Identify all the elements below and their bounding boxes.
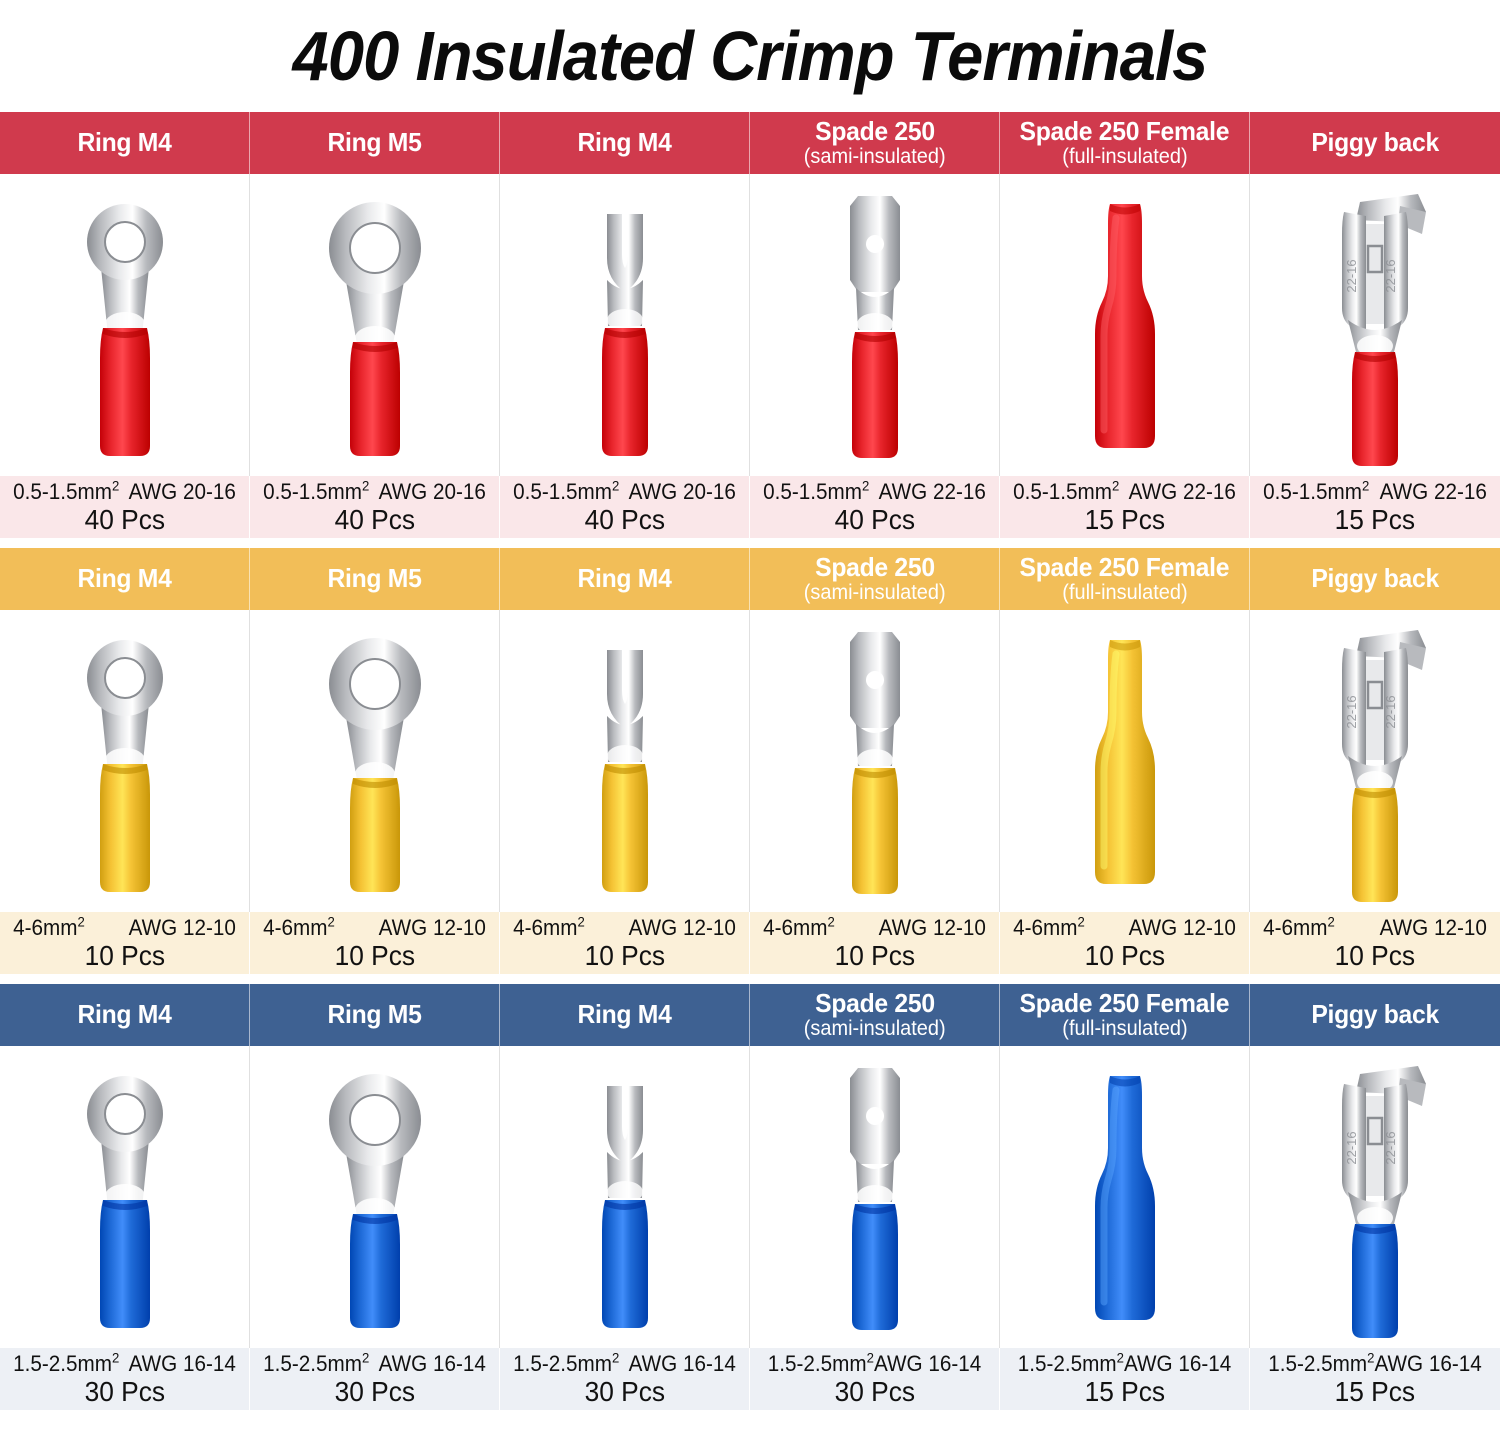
column-header-subtitle: (sami-insulated) xyxy=(804,1018,946,1040)
terminal-row-blue: Ring M4Ring M5Ring M4Spade 250(sami-insu… xyxy=(0,984,1500,1410)
column-header-1: Ring M4 xyxy=(0,112,250,174)
wire-gauge-mm: 1.5-2.5mm2 xyxy=(1018,1353,1124,1375)
superscript-two: 2 xyxy=(862,477,869,493)
wire-gauge-awg: AWG 20-16 xyxy=(129,481,236,503)
column-header-title: Ring M5 xyxy=(327,1001,421,1028)
superscript-two: 2 xyxy=(1367,1349,1374,1365)
column-header-title: Spade 250 Female xyxy=(1020,990,1230,1017)
column-header-3: Ring M4 xyxy=(500,112,750,174)
column-header-title: Ring M4 xyxy=(77,1001,171,1028)
spec-line-wire-awg: 4-6mm2AWG 12-10 xyxy=(1007,917,1241,939)
spec-cell-2: 1.5-2.5mm2AWG 16-1430 Pcs xyxy=(250,1348,500,1410)
spec-cell-1: 0.5-1.5mm2AWG 20-1640 Pcs xyxy=(0,476,250,538)
quantity-label: 10 Pcs xyxy=(334,942,414,970)
column-header-1: Ring M4 xyxy=(0,984,250,1046)
column-header-4: Spade 250(sami-insulated) xyxy=(750,112,1000,174)
quantity-label: 30 Pcs xyxy=(834,1378,914,1406)
column-header-title: Spade 250 xyxy=(815,990,935,1017)
wire-gauge-mm: 0.5-1.5mm2 xyxy=(13,481,119,503)
row-header-strip: Ring M4Ring M5Ring M4Spade 250(sami-insu… xyxy=(0,548,1500,610)
quantity-label: 15 Pcs xyxy=(1335,1378,1415,1406)
quantity-label: 15 Pcs xyxy=(1084,1378,1164,1406)
row-image-strip: 22-1622-16 xyxy=(0,610,1500,912)
spec-line-wire-awg: 0.5-1.5mm2AWG 20-16 xyxy=(507,481,741,503)
spec-line-wire-awg: 1.5-2.5mm2AWG 16-14 xyxy=(757,1353,991,1375)
wire-gauge-awg: AWG 16-14 xyxy=(874,1353,981,1375)
wire-gauge-awg: AWG 16-14 xyxy=(1124,1353,1231,1375)
quantity-label: 10 Pcs xyxy=(84,942,164,970)
svg-text:22-16: 22-16 xyxy=(1383,1131,1398,1164)
terminal-image-female xyxy=(1000,1046,1250,1348)
terminal-image-ring-large xyxy=(250,1046,500,1348)
row-image-strip: 22-1622-16 xyxy=(0,1046,1500,1348)
svg-text:22-16: 22-16 xyxy=(1344,1131,1359,1164)
spec-cell-6: 0.5-1.5mm2AWG 22-1615 Pcs xyxy=(1250,476,1500,538)
spec-line-wire-awg: 1.5-2.5mm2AWG 16-14 xyxy=(7,1353,241,1375)
superscript-two: 2 xyxy=(1117,1349,1124,1365)
superscript-two: 2 xyxy=(1077,913,1084,929)
wire-gauge-awg: AWG 22-16 xyxy=(1129,481,1236,503)
wire-gauge-mm: 4-6mm2 xyxy=(13,917,85,939)
spec-cell-4: 0.5-1.5mm2AWG 22-1640 Pcs xyxy=(750,476,1000,538)
spec-line-wire-awg: 4-6mm2AWG 12-10 xyxy=(757,917,991,939)
spec-cell-4: 1.5-2.5mm2AWG 16-1430 Pcs xyxy=(750,1348,1000,1410)
column-header-title: Ring M5 xyxy=(327,565,421,592)
superscript-two: 2 xyxy=(362,1349,369,1365)
row-image-strip: 22-1622-16 xyxy=(0,174,1500,476)
quantity-label: 10 Pcs xyxy=(1084,942,1164,970)
column-header-6: Piggy back xyxy=(1250,548,1500,610)
superscript-two: 2 xyxy=(327,913,334,929)
terminal-rows: Ring M4Ring M5Ring M4Spade 250(sami-insu… xyxy=(0,112,1500,1410)
wire-gauge-mm: 0.5-1.5mm2 xyxy=(513,481,619,503)
quantity-label: 15 Pcs xyxy=(1084,506,1164,534)
column-header-5: Spade 250 Female(full-insulated) xyxy=(1000,112,1250,174)
wire-gauge-awg: AWG 16-14 xyxy=(1374,1353,1481,1375)
row-separator xyxy=(0,974,1500,984)
svg-text:22-16: 22-16 xyxy=(1344,695,1359,728)
superscript-two: 2 xyxy=(362,477,369,493)
quantity-label: 10 Pcs xyxy=(1335,942,1415,970)
spec-line-wire-awg: 1.5-2.5mm2AWG 16-14 xyxy=(1007,1353,1241,1375)
page-title: 400 Insulated Crimp Terminals xyxy=(53,0,1448,112)
wire-gauge-awg: AWG 12-10 xyxy=(879,917,986,939)
wire-gauge-mm: 0.5-1.5mm2 xyxy=(763,481,869,503)
column-header-title: Spade 250 xyxy=(815,118,935,145)
column-header-title: Ring M4 xyxy=(577,565,671,592)
spec-line-wire-awg: 0.5-1.5mm2AWG 22-16 xyxy=(1258,481,1493,503)
wire-gauge-awg: AWG 16-14 xyxy=(379,1353,486,1375)
column-header-3: Ring M4 xyxy=(500,984,750,1046)
superscript-two: 2 xyxy=(827,913,834,929)
wire-gauge-awg: AWG 12-10 xyxy=(1129,917,1236,939)
terminal-image-piggyback: 22-1622-16 xyxy=(1250,174,1500,476)
row-spec-strip: 1.5-2.5mm2AWG 16-1430 Pcs1.5-2.5mm2AWG 1… xyxy=(0,1348,1500,1410)
spec-cell-2: 4-6mm2AWG 12-1010 Pcs xyxy=(250,912,500,974)
svg-text:22-16: 22-16 xyxy=(1344,259,1359,292)
column-header-4: Spade 250(sami-insulated) xyxy=(750,548,1000,610)
terminal-image-female xyxy=(1000,610,1250,912)
column-header-title: Piggy back xyxy=(1311,565,1439,592)
terminal-image-ring-large xyxy=(250,610,500,912)
spec-cell-1: 4-6mm2AWG 12-1010 Pcs xyxy=(0,912,250,974)
spec-line-wire-awg: 0.5-1.5mm2AWG 22-16 xyxy=(757,481,991,503)
superscript-two: 2 xyxy=(1327,913,1334,929)
column-header-5: Spade 250 Female(full-insulated) xyxy=(1000,548,1250,610)
svg-text:22-16: 22-16 xyxy=(1383,259,1398,292)
superscript-two: 2 xyxy=(112,1349,119,1365)
spec-line-wire-awg: 0.5-1.5mm2AWG 20-16 xyxy=(7,481,241,503)
terminal-image-ring xyxy=(0,610,250,912)
superscript-two: 2 xyxy=(612,1349,619,1365)
spec-cell-5: 0.5-1.5mm2AWG 22-1615 Pcs xyxy=(1000,476,1250,538)
terminal-image-spade xyxy=(750,174,1000,476)
column-header-title: Ring M4 xyxy=(577,1001,671,1028)
superscript-two: 2 xyxy=(112,477,119,493)
terminal-image-spade xyxy=(750,1046,1000,1348)
column-header-subtitle: (full-insulated) xyxy=(1062,146,1187,168)
superscript-two: 2 xyxy=(577,913,584,929)
column-header-1: Ring M4 xyxy=(0,548,250,610)
quantity-label: 40 Pcs xyxy=(84,506,164,534)
spec-cell-5: 4-6mm2AWG 12-1010 Pcs xyxy=(1000,912,1250,974)
terminal-image-fork xyxy=(500,1046,750,1348)
column-header-title: Ring M4 xyxy=(77,565,171,592)
quantity-label: 40 Pcs xyxy=(584,506,664,534)
quantity-label: 40 Pcs xyxy=(834,506,914,534)
row-header-strip: Ring M4Ring M5Ring M4Spade 250(sami-insu… xyxy=(0,112,1500,174)
wire-gauge-mm: 4-6mm2 xyxy=(1013,917,1085,939)
svg-text:22-16: 22-16 xyxy=(1383,695,1398,728)
spec-cell-3: 0.5-1.5mm2AWG 20-1640 Pcs xyxy=(500,476,750,538)
wire-gauge-mm: 1.5-2.5mm2 xyxy=(263,1353,369,1375)
column-header-5: Spade 250 Female(full-insulated) xyxy=(1000,984,1250,1046)
spec-cell-2: 0.5-1.5mm2AWG 20-1640 Pcs xyxy=(250,476,500,538)
quantity-label: 30 Pcs xyxy=(334,1378,414,1406)
column-header-3: Ring M4 xyxy=(500,548,750,610)
wire-gauge-awg: AWG 12-10 xyxy=(129,917,236,939)
terminal-image-ring xyxy=(0,1046,250,1348)
wire-gauge-mm: 1.5-2.5mm2 xyxy=(13,1353,119,1375)
column-header-2: Ring M5 xyxy=(250,112,500,174)
column-header-title: Piggy back xyxy=(1311,1001,1439,1028)
wire-gauge-awg: AWG 12-10 xyxy=(379,917,486,939)
spec-cell-5: 1.5-2.5mm2AWG 16-1415 Pcs xyxy=(1000,1348,1250,1410)
column-header-subtitle: (full-insulated) xyxy=(1062,582,1187,604)
column-header-title: Ring M5 xyxy=(327,129,421,156)
wire-gauge-awg: AWG 12-10 xyxy=(629,917,736,939)
wire-gauge-mm: 0.5-1.5mm2 xyxy=(263,481,369,503)
column-header-subtitle: (sami-insulated) xyxy=(804,582,946,604)
wire-gauge-awg: AWG 16-14 xyxy=(129,1353,236,1375)
column-header-subtitle: (sami-insulated) xyxy=(804,146,946,168)
wire-gauge-awg: AWG 12-10 xyxy=(1380,917,1487,939)
wire-gauge-mm: 1.5-2.5mm2 xyxy=(513,1353,619,1375)
wire-gauge-awg: AWG 22-16 xyxy=(879,481,986,503)
superscript-two: 2 xyxy=(612,477,619,493)
column-header-6: Piggy back xyxy=(1250,984,1500,1046)
terminal-image-ring xyxy=(0,174,250,476)
superscript-two: 2 xyxy=(77,913,84,929)
spec-line-wire-awg: 4-6mm2AWG 12-10 xyxy=(257,917,491,939)
column-header-title: Ring M4 xyxy=(577,129,671,156)
spec-cell-6: 4-6mm2AWG 12-1010 Pcs xyxy=(1250,912,1500,974)
spec-line-wire-awg: 4-6mm2AWG 12-10 xyxy=(7,917,241,939)
terminal-image-female xyxy=(1000,174,1250,476)
column-header-4: Spade 250(sami-insulated) xyxy=(750,984,1000,1046)
column-header-2: Ring M5 xyxy=(250,548,500,610)
terminal-row-yellow: Ring M4Ring M5Ring M4Spade 250(sami-insu… xyxy=(0,548,1500,974)
spec-line-wire-awg: 0.5-1.5mm2AWG 20-16 xyxy=(257,481,491,503)
superscript-two: 2 xyxy=(1112,477,1119,493)
quantity-label: 30 Pcs xyxy=(84,1378,164,1406)
wire-gauge-mm: 0.5-1.5mm2 xyxy=(1263,481,1369,503)
terminal-image-piggyback: 22-1622-16 xyxy=(1250,1046,1500,1348)
spec-line-wire-awg: 1.5-2.5mm2AWG 16-14 xyxy=(257,1353,491,1375)
wire-gauge-mm: 4-6mm2 xyxy=(1263,917,1335,939)
wire-gauge-awg: AWG 22-16 xyxy=(1380,481,1487,503)
column-header-2: Ring M5 xyxy=(250,984,500,1046)
wire-gauge-mm: 4-6mm2 xyxy=(513,917,585,939)
wire-gauge-awg: AWG 20-16 xyxy=(379,481,486,503)
quantity-label: 10 Pcs xyxy=(584,942,664,970)
wire-gauge-awg: AWG 16-14 xyxy=(629,1353,736,1375)
spec-cell-1: 1.5-2.5mm2AWG 16-1430 Pcs xyxy=(0,1348,250,1410)
terminal-image-piggyback: 22-1622-16 xyxy=(1250,610,1500,912)
spec-cell-6: 1.5-2.5mm2AWG 16-1415 Pcs xyxy=(1250,1348,1500,1410)
quantity-label: 40 Pcs xyxy=(334,506,414,534)
superscript-two: 2 xyxy=(1362,477,1369,493)
wire-gauge-mm: 0.5-1.5mm2 xyxy=(1013,481,1119,503)
product-infographic: 400 Insulated Crimp Terminals Ring M4Rin… xyxy=(0,0,1500,1452)
row-separator xyxy=(0,538,1500,548)
terminal-row-red: Ring M4Ring M5Ring M4Spade 250(sami-insu… xyxy=(0,112,1500,538)
wire-gauge-awg: AWG 20-16 xyxy=(629,481,736,503)
column-header-title: Piggy back xyxy=(1311,129,1439,156)
column-header-title: Spade 250 Female xyxy=(1020,554,1230,581)
spec-line-wire-awg: 1.5-2.5mm2AWG 16-14 xyxy=(507,1353,741,1375)
superscript-two: 2 xyxy=(867,1349,874,1365)
spec-cell-4: 4-6mm2AWG 12-1010 Pcs xyxy=(750,912,1000,974)
terminal-image-fork xyxy=(500,610,750,912)
row-spec-strip: 0.5-1.5mm2AWG 20-1640 Pcs0.5-1.5mm2AWG 2… xyxy=(0,476,1500,538)
spec-cell-3: 4-6mm2AWG 12-1010 Pcs xyxy=(500,912,750,974)
terminal-image-fork xyxy=(500,174,750,476)
column-header-6: Piggy back xyxy=(1250,112,1500,174)
row-header-strip: Ring M4Ring M5Ring M4Spade 250(sami-insu… xyxy=(0,984,1500,1046)
column-header-title: Ring M4 xyxy=(77,129,171,156)
spec-cell-3: 1.5-2.5mm2AWG 16-1430 Pcs xyxy=(500,1348,750,1410)
quantity-label: 15 Pcs xyxy=(1335,506,1415,534)
terminal-image-spade xyxy=(750,610,1000,912)
quantity-label: 30 Pcs xyxy=(584,1378,664,1406)
column-header-title: Spade 250 Female xyxy=(1020,118,1230,145)
wire-gauge-mm: 1.5-2.5mm2 xyxy=(768,1353,874,1375)
wire-gauge-mm: 4-6mm2 xyxy=(763,917,835,939)
wire-gauge-mm: 4-6mm2 xyxy=(263,917,335,939)
column-header-title: Spade 250 xyxy=(815,554,935,581)
spec-line-wire-awg: 4-6mm2AWG 12-10 xyxy=(1258,917,1493,939)
row-spec-strip: 4-6mm2AWG 12-1010 Pcs4-6mm2AWG 12-1010 P… xyxy=(0,912,1500,974)
spec-line-wire-awg: 4-6mm2AWG 12-10 xyxy=(507,917,741,939)
spec-line-wire-awg: 0.5-1.5mm2AWG 22-16 xyxy=(1007,481,1241,503)
wire-gauge-mm: 1.5-2.5mm2 xyxy=(1268,1353,1374,1375)
spec-line-wire-awg: 1.5-2.5mm2AWG 16-14 xyxy=(1258,1353,1493,1375)
column-header-subtitle: (full-insulated) xyxy=(1062,1018,1187,1040)
quantity-label: 10 Pcs xyxy=(834,942,914,970)
terminal-image-ring-large xyxy=(250,174,500,476)
